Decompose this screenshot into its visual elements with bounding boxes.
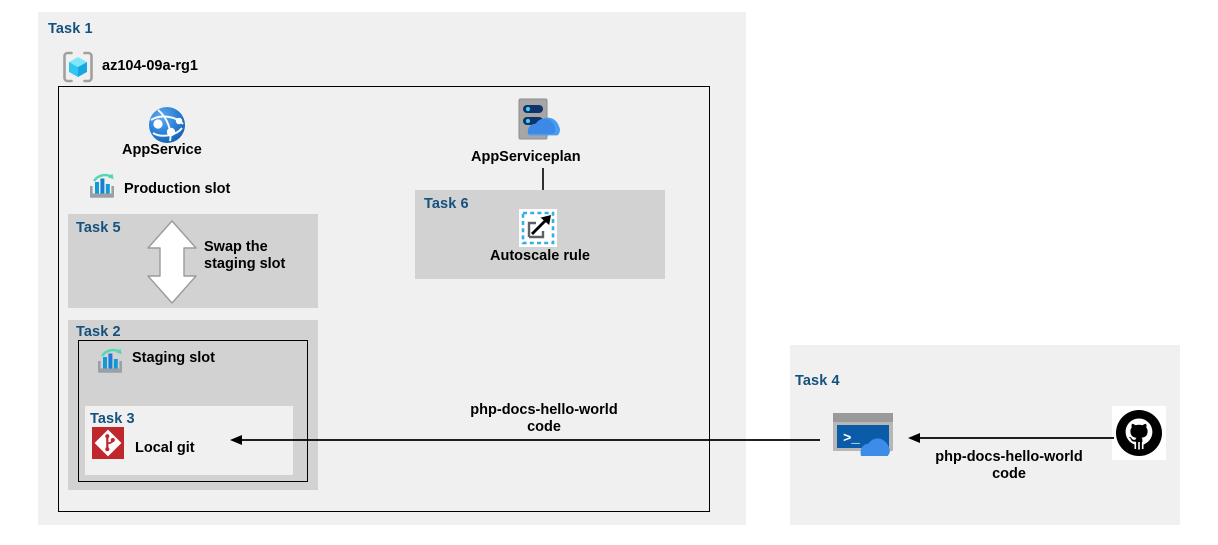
- task1-label: Task 1: [48, 21, 93, 37]
- code-flow-left-line1: php-docs-hello-world: [434, 402, 654, 419]
- app-service-icon: [146, 104, 188, 146]
- app-service-plan-icon: [511, 96, 569, 148]
- local-git-label: Local git: [135, 440, 195, 457]
- github-to-cloudshell-arrow: [908, 430, 1114, 446]
- github-icon: [1112, 406, 1166, 460]
- resource-group-label: az104-09a-rg1: [102, 58, 198, 75]
- staging-slot-label: Staging slot: [132, 350, 215, 367]
- app-service-label: AppService: [122, 142, 202, 159]
- task3-label: Task 3: [90, 411, 135, 427]
- code-flow-label-left: php-docs-hello-world code: [434, 402, 654, 436]
- svg-text:>_: >_: [843, 431, 860, 447]
- swap-arrow-label-line2: staging slot: [204, 256, 322, 273]
- task6-label: Task 6: [424, 196, 469, 212]
- autoscale-rule-label: Autoscale rule: [490, 248, 590, 265]
- app-service-plan-label: AppServiceplan: [471, 149, 581, 166]
- code-flow-right-line1: php-docs-hello-world: [898, 449, 1120, 466]
- cloudshell-to-localgit-arrow: [230, 432, 820, 448]
- deployment-slot-icon-production: [88, 173, 118, 201]
- production-slot-label: Production slot: [124, 181, 230, 198]
- swap-arrow-label-line1: Swap the: [204, 239, 322, 256]
- git-icon: [92, 427, 124, 459]
- code-flow-label-right: php-docs-hello-world code: [898, 449, 1120, 483]
- task4-label: Task 4: [795, 373, 840, 389]
- cloud-shell-icon: >_: [831, 411, 903, 461]
- swap-arrow-label: Swap the staging slot: [204, 239, 322, 273]
- autoscale-icon: [519, 209, 557, 247]
- task2-label: Task 2: [76, 324, 121, 340]
- diagram-canvas: Task 1 az104-09a-rg1: [0, 0, 1218, 545]
- swap-double-arrow-icon: [146, 220, 198, 304]
- task5-label: Task 5: [76, 220, 121, 236]
- deployment-slot-icon-staging: [96, 348, 126, 376]
- resource-group-icon: [60, 49, 96, 85]
- code-flow-right-line2: code: [898, 466, 1120, 483]
